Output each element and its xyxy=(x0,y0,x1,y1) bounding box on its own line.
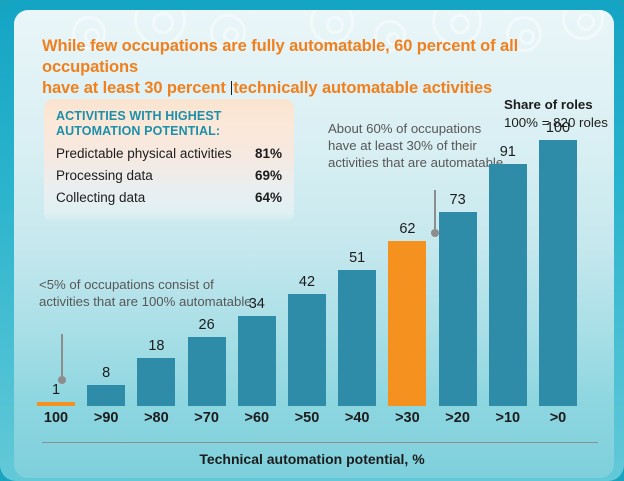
bar-group: 100 xyxy=(539,130,577,406)
infographic-root: While few occupations are fully automata… xyxy=(0,0,624,481)
bar-group: 26 xyxy=(188,130,226,406)
bar[interactable] xyxy=(188,337,226,406)
bar[interactable] xyxy=(489,164,527,406)
bar-value-label: 1 xyxy=(37,382,75,398)
bar-group: 62 xyxy=(388,130,426,406)
x-axis-tick: >70 xyxy=(183,410,231,426)
bar[interactable] xyxy=(388,241,426,406)
x-axis-tick: >30 xyxy=(383,410,431,426)
x-axis-tick: >20 xyxy=(434,410,482,426)
bar-group: 8 xyxy=(87,130,125,406)
x-axis-tick: >0 xyxy=(534,410,582,426)
bar-group: 18 xyxy=(137,130,175,406)
bar-value-label: 42 xyxy=(288,274,326,290)
title-line-2-before: have at least 30 percent xyxy=(42,79,230,97)
bar-group: 51 xyxy=(338,130,376,406)
bar-group: 73 xyxy=(439,130,477,406)
bar-value-label: 26 xyxy=(188,317,226,333)
title-line-1: While few occupations are fully automata… xyxy=(42,37,518,76)
bar-value-label: 100 xyxy=(539,120,577,136)
bar[interactable] xyxy=(87,385,125,406)
bar[interactable] xyxy=(238,316,276,406)
x-axis-tick: >80 xyxy=(132,410,180,426)
bar-group: 42 xyxy=(288,130,326,406)
bar-value-label: 34 xyxy=(238,296,276,312)
x-axis-title: Technical automation potential, % xyxy=(0,451,624,467)
axis-rule xyxy=(42,442,598,443)
x-axis-tick: >60 xyxy=(233,410,281,426)
page-title: While few occupations are fully automata… xyxy=(42,36,602,99)
bar[interactable] xyxy=(539,140,577,406)
bar[interactable] xyxy=(439,212,477,406)
bar-value-label: 73 xyxy=(439,192,477,208)
bar-group: 34 xyxy=(238,130,276,406)
bar-value-label: 91 xyxy=(489,144,527,160)
bar-value-label: 18 xyxy=(137,338,175,354)
x-axis-tick: 100 xyxy=(32,410,80,426)
bar-group: 91 xyxy=(489,130,527,406)
share-of-roles-title: Share of roles xyxy=(504,96,608,114)
bar-value-label: 8 xyxy=(87,365,125,381)
x-axis-tick: >40 xyxy=(333,410,381,426)
bar-value-label: 62 xyxy=(388,221,426,237)
bar-chart: 181826344251627391100 xyxy=(36,130,614,406)
bar-value-label: 51 xyxy=(338,250,376,266)
bar[interactable] xyxy=(137,358,175,406)
bar[interactable] xyxy=(37,402,75,406)
x-axis-tick: >10 xyxy=(484,410,532,426)
content-panel: While few occupations are fully automata… xyxy=(14,10,614,478)
x-axis-tick: >50 xyxy=(283,410,331,426)
bar[interactable] xyxy=(288,294,326,406)
x-axis-tick: >90 xyxy=(82,410,130,426)
bar[interactable] xyxy=(338,270,376,406)
title-line-2-after: technically automatable activities xyxy=(233,79,492,97)
x-axis-tick-labels: 100>90>80>70>60>50>40>30>20>10>0 xyxy=(36,410,614,434)
callout-heading-line-1: ACTIVITIES WITH HIGHEST xyxy=(56,109,222,123)
bar-group: 1 xyxy=(37,130,75,406)
